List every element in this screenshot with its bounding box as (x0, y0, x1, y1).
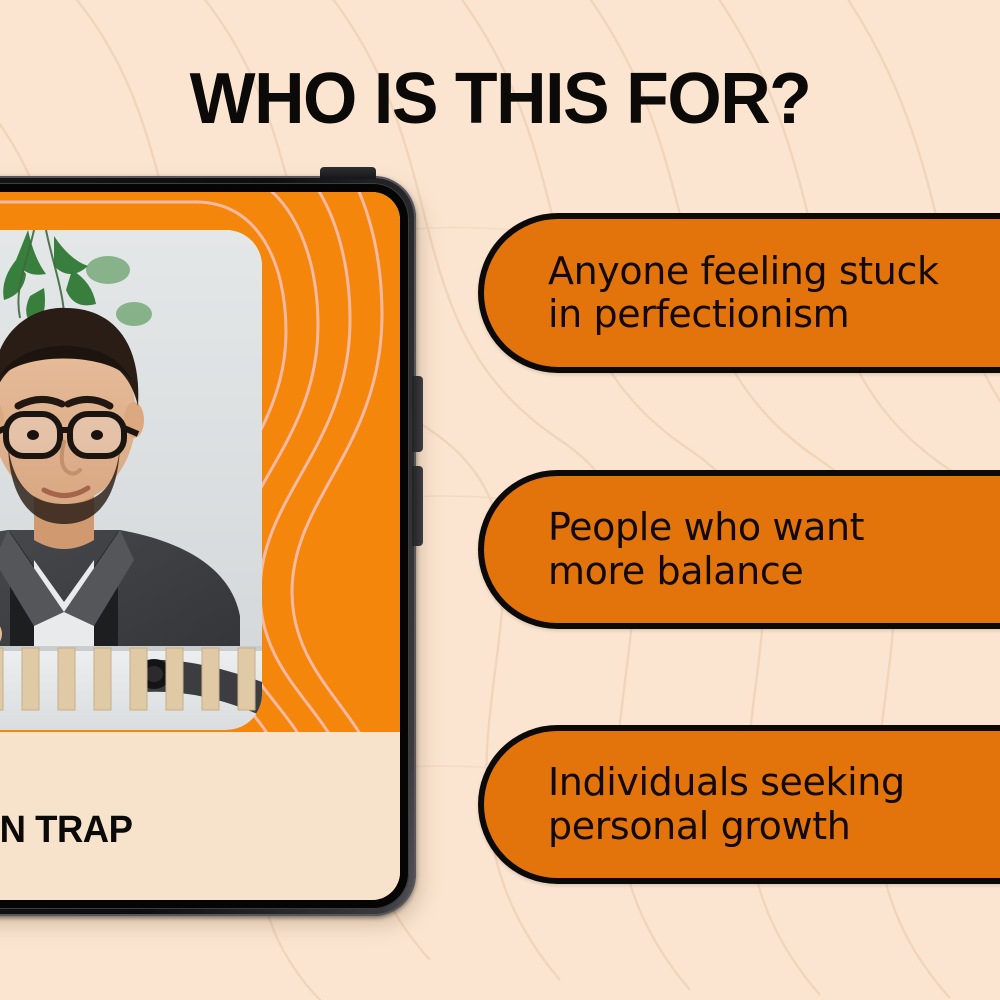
bullet-pill-3[interactable]: Individuals seeking personal growth (478, 725, 1000, 884)
cover-title: ESCAPING THE PERFECTION TRAP (0, 766, 213, 851)
cover-caption-band: ESCAPING THE PERFECTION TRAP (0, 732, 400, 900)
volume-down-button[interactable] (412, 466, 423, 546)
bullet-pill-2[interactable]: People who want more balance (478, 470, 1000, 629)
tablet-device: ESCAPING THE PERFECTION TRAP (0, 176, 430, 928)
tablet-screen[interactable]: ESCAPING THE PERFECTION TRAP (0, 192, 400, 900)
cover-title-line-1: ESCAPING (0, 766, 213, 809)
bullet-pill-2-label: People who want more balance (484, 506, 884, 593)
cover-photo (0, 230, 262, 730)
cover-photo-image (0, 230, 262, 730)
tablet-body: ESCAPING THE PERFECTION TRAP (0, 176, 416, 916)
bullet-pill-1-label: Anyone feeling stuck in perfectionism (484, 250, 959, 337)
volume-up-button[interactable] (412, 376, 423, 452)
page-title: WHO IS THIS FOR? (15, 58, 985, 140)
bullet-pill-1[interactable]: Anyone feeling stuck in perfectionism (478, 213, 1000, 373)
cover-title-line-2: THE PERFECTION TRAP (0, 809, 213, 852)
bullet-pill-3-label: Individuals seeking personal growth (484, 761, 925, 848)
power-button[interactable] (320, 167, 376, 179)
